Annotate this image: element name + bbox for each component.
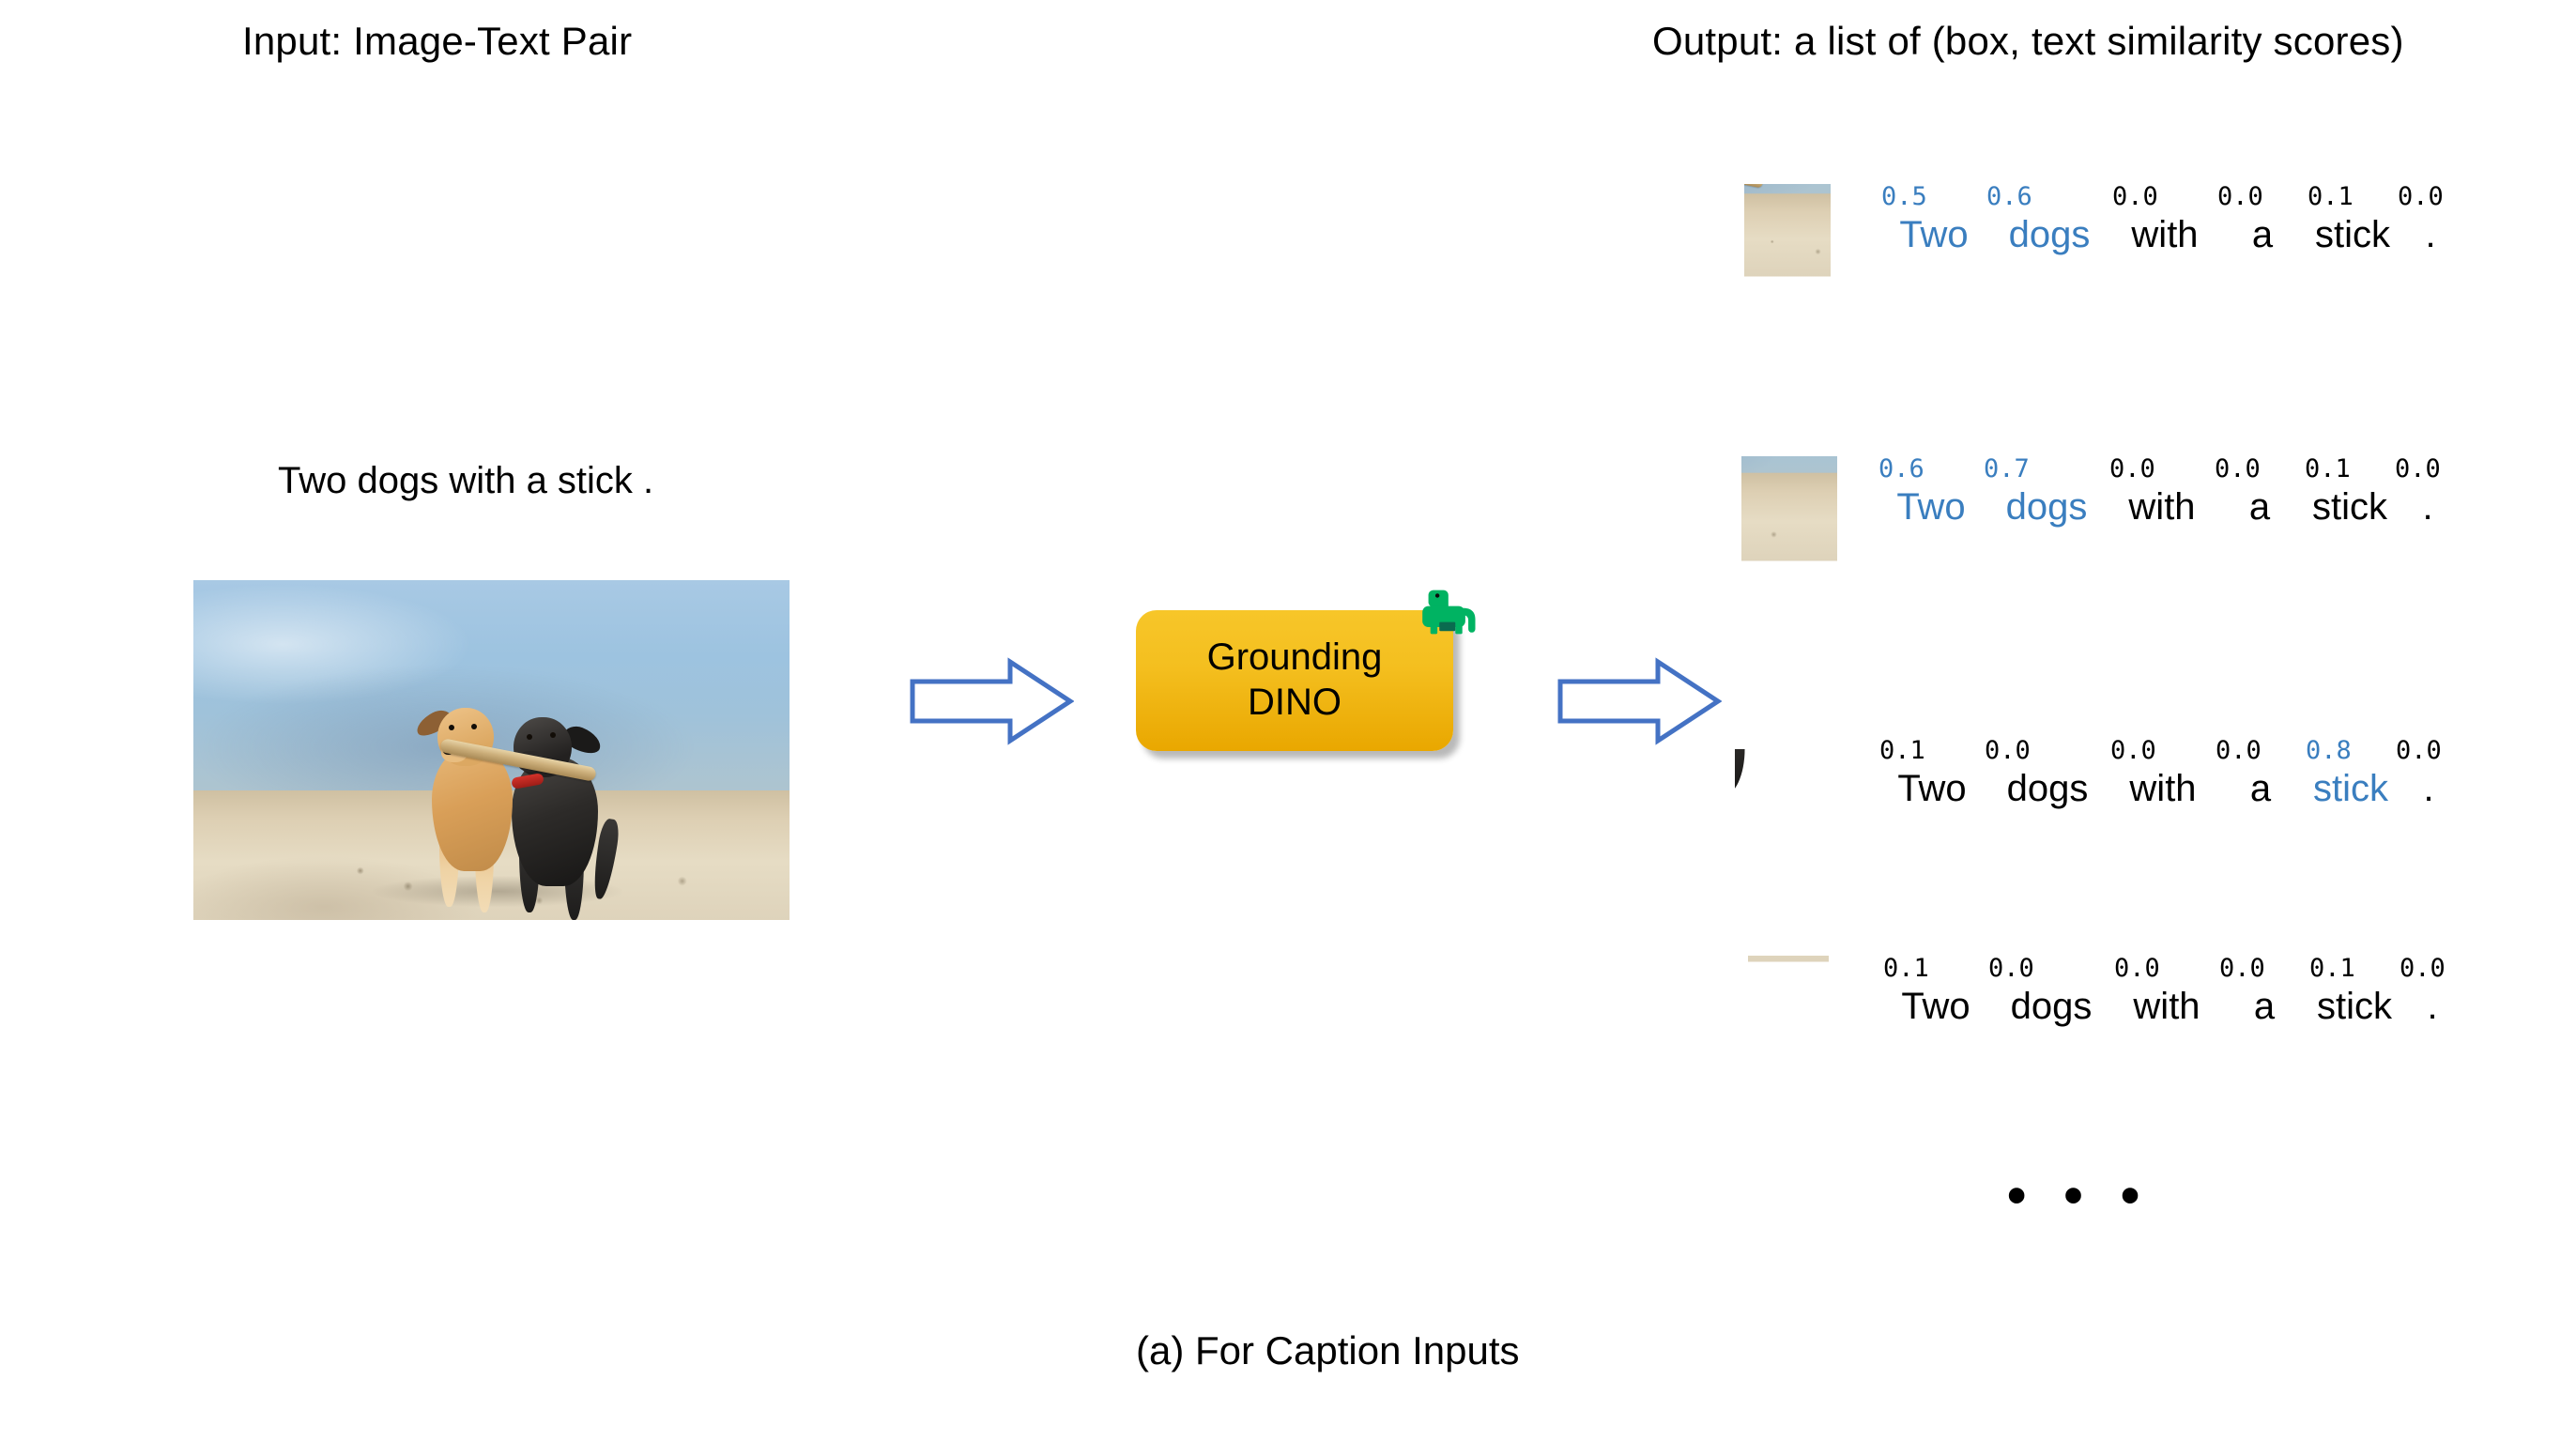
input-heading: Input: Image-Text Pair (242, 19, 632, 64)
beach-scene (193, 580, 790, 920)
output-heading: Output: a list of (box, text similarity … (1652, 19, 2404, 64)
caption-tokens: Twodogswithastick. (1881, 216, 2463, 253)
token: dogs (1985, 770, 2110, 807)
input-caption-text: Two dogs with a stick . (278, 460, 653, 502)
output-row: 0.10.00.00.00.80.0 Twodogswithastick. (1735, 738, 2461, 807)
score-value: 0.0 (2114, 956, 2219, 981)
score-value: 0.0 (2112, 184, 2217, 209)
ellipsis-more-rows: • • • (2007, 1164, 2151, 1227)
similarity-scores: 0.10.00.00.00.10.0 (1883, 956, 2465, 981)
dinosaur-icon (1419, 580, 1483, 644)
token: dogs (1984, 488, 2109, 526)
score-value: 0.0 (2396, 738, 2461, 763)
token: . (2400, 988, 2465, 1025)
score-value: 0.1 (1883, 956, 1988, 981)
score-value: 0.0 (2217, 184, 2308, 209)
token: . (2396, 770, 2461, 807)
detection-thumbnail (1741, 456, 1837, 661)
score-value: 0.0 (2400, 956, 2465, 981)
figure-canvas: Input: Image-Text Pair Output: a list of… (0, 0, 2576, 1441)
token: Two (1878, 488, 1984, 526)
token: stick (2308, 216, 2398, 253)
score-value: 0.0 (1988, 956, 2114, 981)
score-value: 0.0 (2219, 956, 2309, 981)
score-value: 0.5 (1881, 184, 1986, 209)
token: stick (2309, 988, 2400, 1025)
score-value: 0.0 (2216, 738, 2306, 763)
token: with (2112, 216, 2217, 253)
detection-thumbnail (1748, 956, 1829, 1076)
similarity-scores: 0.60.70.00.00.10.0 (1878, 456, 2461, 482)
score-value: 0.8 (2306, 738, 2396, 763)
token: Two (1879, 770, 1985, 807)
token: with (2110, 770, 2216, 807)
score-value: 0.1 (2305, 456, 2395, 482)
token: with (2109, 488, 2215, 526)
arrow-input-to-model (909, 657, 1074, 745)
tan-dog (424, 706, 565, 920)
score-value: 0.6 (1986, 184, 2112, 209)
caption-tokens: Twodogswithastick. (1883, 988, 2465, 1025)
token: with (2114, 988, 2219, 1025)
score-value: 0.0 (2398, 184, 2463, 209)
grounding-dino-box[interactable]: Grounding DINO (1136, 610, 1453, 751)
score-value: 0.0 (2109, 456, 2215, 482)
input-photo (193, 580, 790, 920)
caption-tokens: Twodogswithastick. (1879, 770, 2461, 807)
detection-thumbnail (1735, 749, 1853, 804)
token: dogs (1986, 216, 2112, 253)
token: a (2216, 770, 2306, 807)
figure-caption: (a) For Caption Inputs (1136, 1328, 1520, 1373)
similarity-scores: 0.50.60.00.00.10.0 (1881, 184, 2463, 209)
output-row: 0.10.00.00.00.10.0 Twodogswithastick. (1748, 956, 2465, 1076)
score-value: 0.0 (2395, 456, 2461, 482)
score-value: 0.7 (1984, 456, 2109, 482)
model-name-line-1: Grounding (1207, 636, 1383, 680)
detection-thumbnail (1744, 184, 1831, 402)
score-value: 0.1 (2308, 184, 2398, 209)
token: stick (2306, 770, 2396, 807)
score-value: 0.1 (2309, 956, 2400, 981)
token: a (2217, 216, 2308, 253)
token: stick (2305, 488, 2395, 526)
model-name-line-2: DINO (1248, 682, 1342, 725)
output-row: 0.60.70.00.00.10.0 Twodogswithastick. (1741, 456, 2461, 661)
token: a (2215, 488, 2305, 526)
caption-tokens: Twodogswithastick. (1878, 488, 2461, 526)
arrow-model-to-output (1556, 657, 1722, 745)
token: Two (1881, 216, 1986, 253)
score-value: 0.0 (2110, 738, 2216, 763)
token: a (2219, 988, 2309, 1025)
token: dogs (1988, 988, 2114, 1025)
token: . (2398, 216, 2463, 253)
score-value: 0.6 (1878, 456, 1984, 482)
similarity-scores: 0.10.00.00.00.80.0 (1879, 738, 2461, 763)
token: . (2395, 488, 2461, 526)
output-row: 0.50.60.00.00.10.0 Twodogswithastick. (1744, 184, 2463, 402)
token: Two (1883, 988, 1988, 1025)
score-value: 0.1 (1879, 738, 1985, 763)
score-value: 0.0 (1985, 738, 2110, 763)
score-value: 0.0 (2215, 456, 2305, 482)
